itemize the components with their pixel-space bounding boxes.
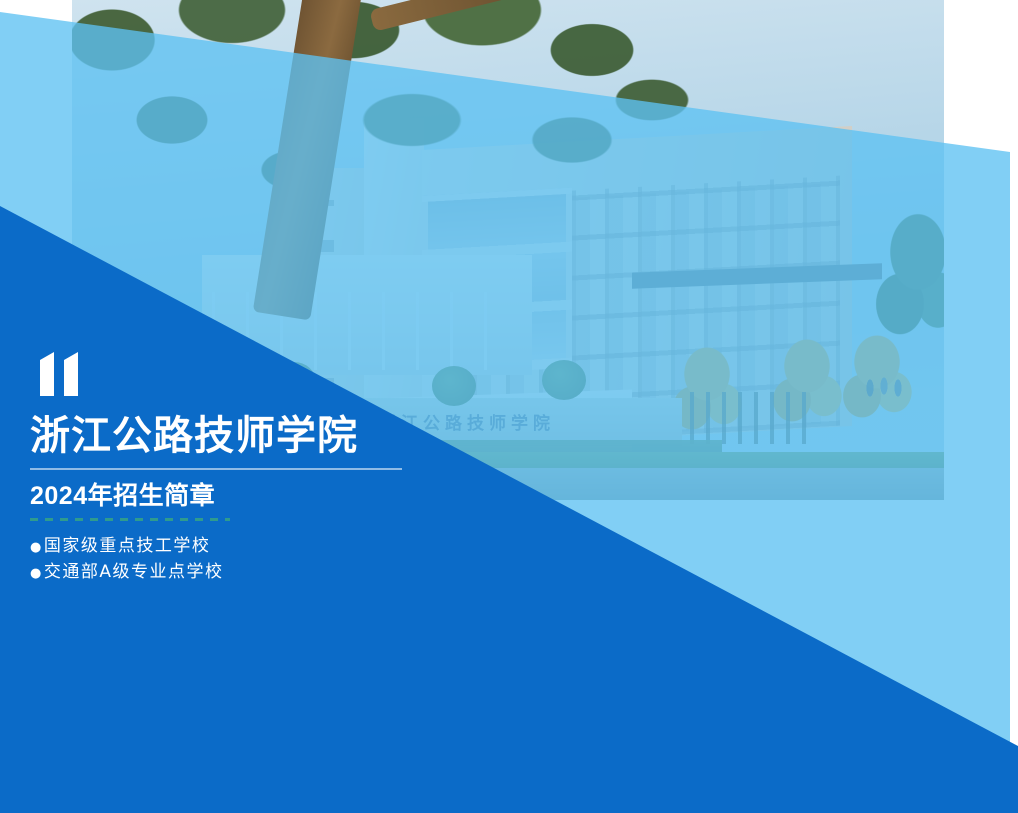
bullet-icon: ●	[30, 566, 43, 581]
list-item: ●国家级重点技工学校	[30, 533, 460, 559]
poster-text-block: 浙江公路技师学院 2024年招生简章 ●国家级重点技工学校 ●交通部A级专业点学…	[30, 352, 460, 585]
poster-subtitle: 2024年招生简章	[30, 483, 460, 511]
list-item-label: 交通部A级专业点学校	[44, 562, 224, 582]
list-item: ●交通部A级专业点学校	[30, 559, 460, 585]
shrub-4	[542, 360, 586, 400]
fence-right	[690, 392, 810, 444]
admissions-poster: 浙江公路技师学院 浙江公路技师学院 2024年招生简章 ●国家级重点技工学校	[0, 0, 1018, 813]
quotation-mark-icon	[30, 352, 88, 396]
title-divider	[30, 468, 402, 470]
people-group	[862, 370, 916, 400]
page-title: 浙江公路技师学院	[30, 416, 460, 456]
list-item-label: 国家级重点技工学校	[44, 536, 211, 556]
subtitle-dashed-divider	[30, 518, 230, 521]
bullet-icon: ●	[30, 540, 43, 555]
tree-canopy	[72, 0, 692, 300]
highlight-list: ●国家级重点技工学校 ●交通部A级专业点学校	[30, 533, 460, 586]
